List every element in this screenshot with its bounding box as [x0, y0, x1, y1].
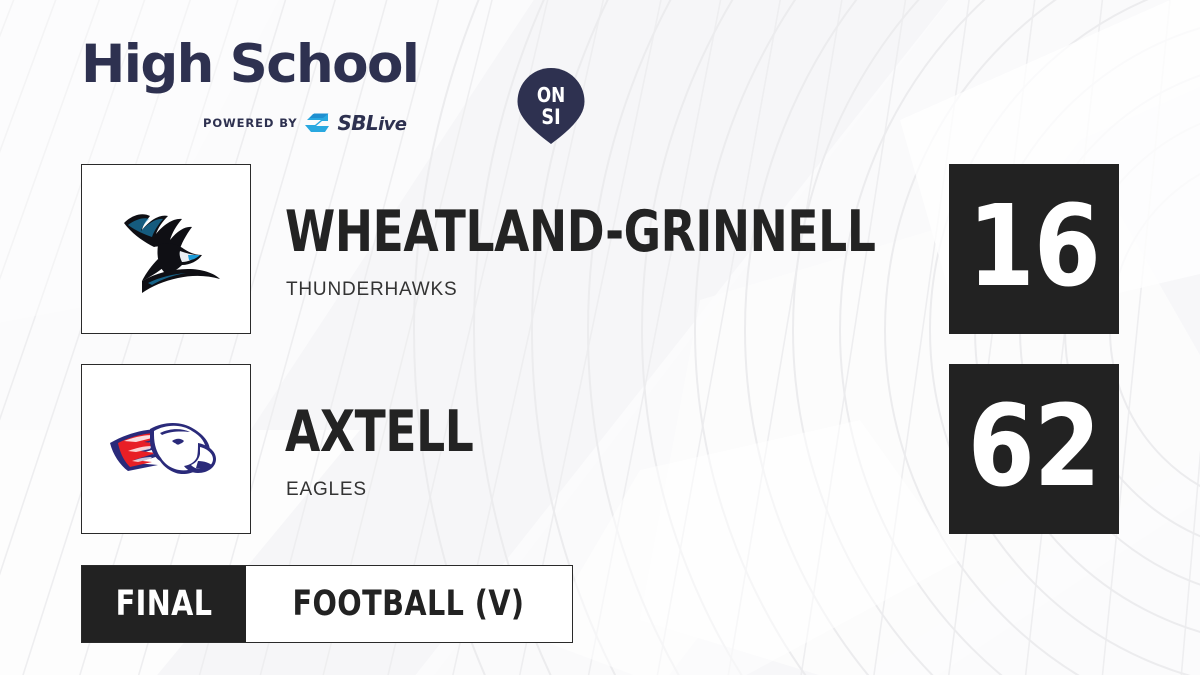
team-mascot: THUNDERHAWKS — [286, 279, 457, 301]
team-score: 16 — [968, 191, 1100, 303]
eagle-logo-icon — [102, 385, 230, 513]
scoreboard-graphic: High School ON SI POWERED BY SBLive — [0, 0, 1200, 675]
team-logo-tile — [81, 164, 251, 334]
pin-bottom-label: SI — [541, 105, 560, 130]
game-status-label: FINAL — [116, 584, 213, 624]
team-name: AXTELL — [285, 404, 473, 461]
powered-by-label: POWERED BY — [203, 116, 297, 130]
sblive-s-icon — [304, 113, 330, 133]
brand-lockup: High School ON SI POWERED BY SBLive — [81, 36, 511, 136]
brand-wordmark: High School — [81, 36, 511, 94]
team-row: WHEATLAND-GRINNELL THUNDERHAWKS 16 — [0, 164, 1200, 336]
status-bar: FINAL FOOTBALL (V) — [81, 565, 573, 643]
team-score: 62 — [968, 391, 1100, 503]
game-status-badge: FINAL — [82, 566, 246, 642]
thunderhawk-logo-icon — [102, 185, 230, 313]
team-mascot: EAGLES — [286, 479, 367, 501]
sblive-wordmark: SBLive — [337, 111, 406, 135]
sport-label-block: FOOTBALL (V) — [246, 566, 572, 642]
sblive-upper: SBL — [337, 111, 378, 135]
team-logo-tile — [81, 364, 251, 534]
on-si-pin-icon: ON SI — [515, 67, 587, 145]
team-row: AXTELL EAGLES 62 — [0, 364, 1200, 536]
team-name: WHEATLAND-GRINNELL — [285, 204, 876, 261]
powered-by-lockup: POWERED BY SBLive — [203, 111, 406, 135]
sblive-lower: ive — [378, 114, 406, 135]
team-score-box: 62 — [949, 364, 1119, 534]
team-score-box: 16 — [949, 164, 1119, 334]
sport-label: FOOTBALL (V) — [293, 584, 525, 624]
